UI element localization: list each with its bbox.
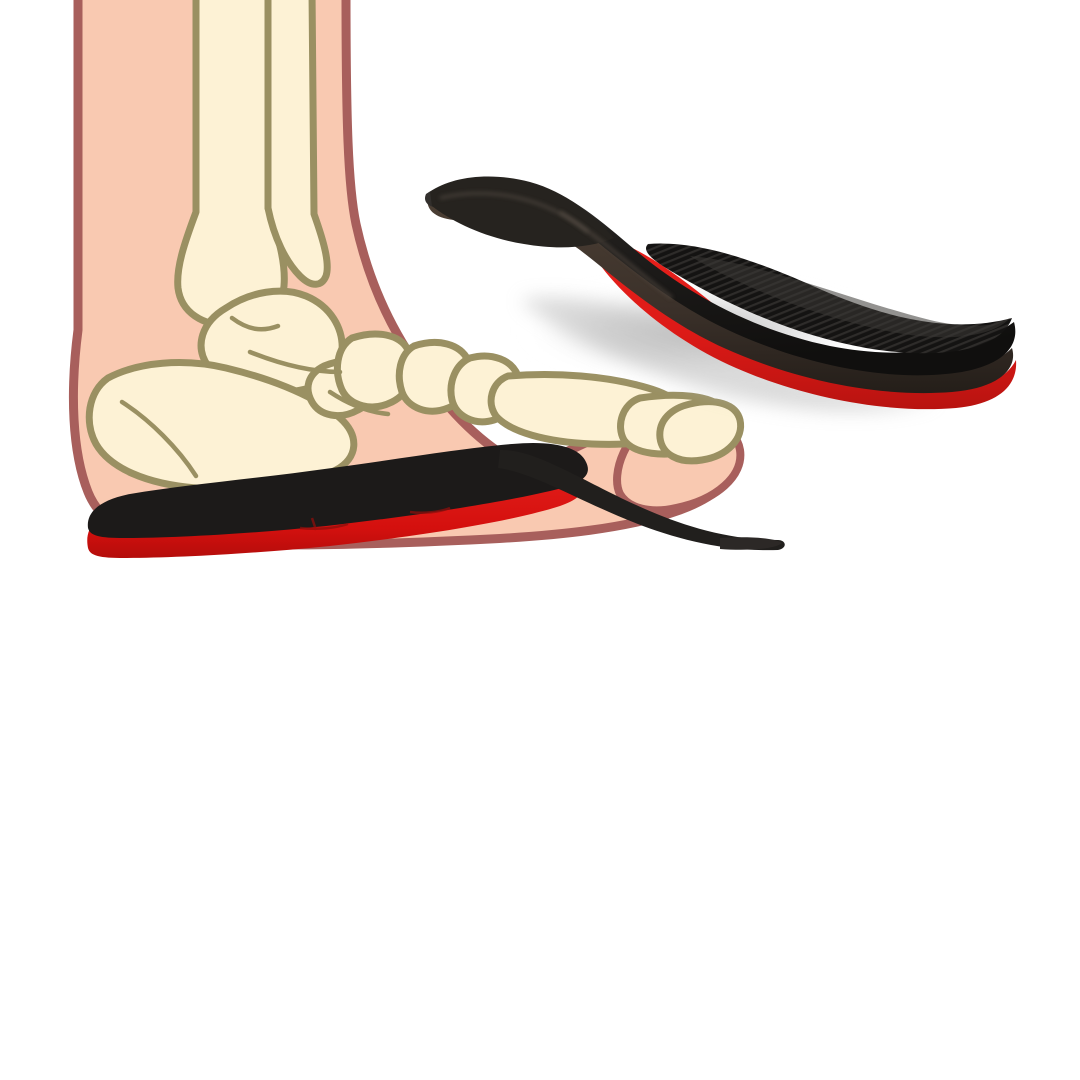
product-text-block: Semi-Rigid Arch Support Support flat fee… xyxy=(0,600,1080,1080)
insole-forefoot-pad-photo xyxy=(430,177,614,248)
illustration-svg xyxy=(0,0,1080,600)
product-info-card: Semi-Rigid Arch Support Support flat fee… xyxy=(0,0,1080,1080)
foot-anatomy-illustration xyxy=(0,0,1080,600)
distal-phalanx-bone xyxy=(660,402,741,461)
